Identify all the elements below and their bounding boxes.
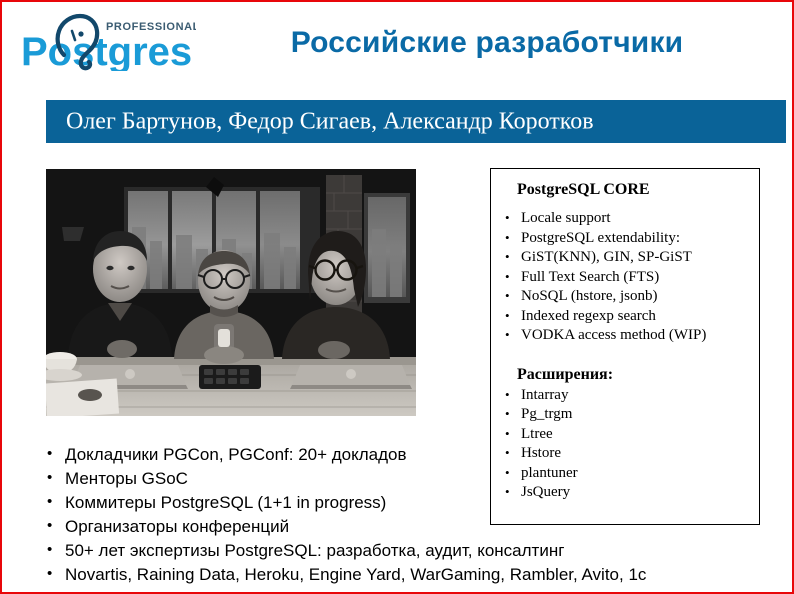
logo-svg: PROFESSIONAL Postgres <box>18 9 196 71</box>
authors-banner: Олег Бартунов, Федор Сигаев, Александр К… <box>46 100 786 143</box>
list-item: Менторы GSoC <box>42 467 772 491</box>
postgres-professional-logo: PROFESSIONAL Postgres <box>18 9 196 71</box>
list-item: Pg_trgm <box>503 405 759 425</box>
logo-wordmark-text: Postgres <box>21 30 192 71</box>
elephant-eye-icon <box>78 31 83 36</box>
list-item: Indexed regexp search <box>503 307 759 327</box>
keyboard <box>199 365 261 389</box>
team-photo <box>46 169 416 416</box>
list-item: Ltree <box>503 425 759 445</box>
list-item: Full Text Search (FTS) <box>503 268 759 288</box>
list-item: 50+ лет экспертизы PostgreSQL: разработк… <box>42 539 772 563</box>
presentation-slide: PROFESSIONAL Postgres Российские разрабо… <box>0 0 794 594</box>
list-item: NoSQL (hstore, jsonb) <box>503 287 759 307</box>
list-item: Коммитеры PostgreSQL (1+1 in progress) <box>42 491 772 515</box>
laptop-right <box>290 365 412 389</box>
list-item: GiST(KNN), GIN, SP-GiST <box>503 248 759 268</box>
list-item: VODKA access method (WIP) <box>503 326 759 346</box>
core-feature-list: Locale support PostgreSQL extendability:… <box>491 209 759 346</box>
extensions-heading: Расширения: <box>517 366 759 384</box>
achievements-list: Докладчики PGCon, PGConf: 20+ докладов М… <box>42 443 772 587</box>
list-item: Locale support <box>503 209 759 229</box>
list-item: Intarray <box>503 386 759 406</box>
page-title: Российские разработчики <box>192 26 782 60</box>
list-item: Novartis, Raining Data, Heroku, Engine Y… <box>42 563 772 587</box>
authors-banner-text: Олег Бартунов, Федор Сигаев, Александр К… <box>66 108 594 135</box>
core-heading: PostgreSQL CORE <box>517 181 759 199</box>
list-item: Организаторы конференций <box>42 515 772 539</box>
list-item: Докладчики PGCon, PGConf: 20+ докладов <box>42 443 772 467</box>
team-photo-svg <box>46 169 416 416</box>
list-item: PostgreSQL extendability: <box>503 229 759 249</box>
